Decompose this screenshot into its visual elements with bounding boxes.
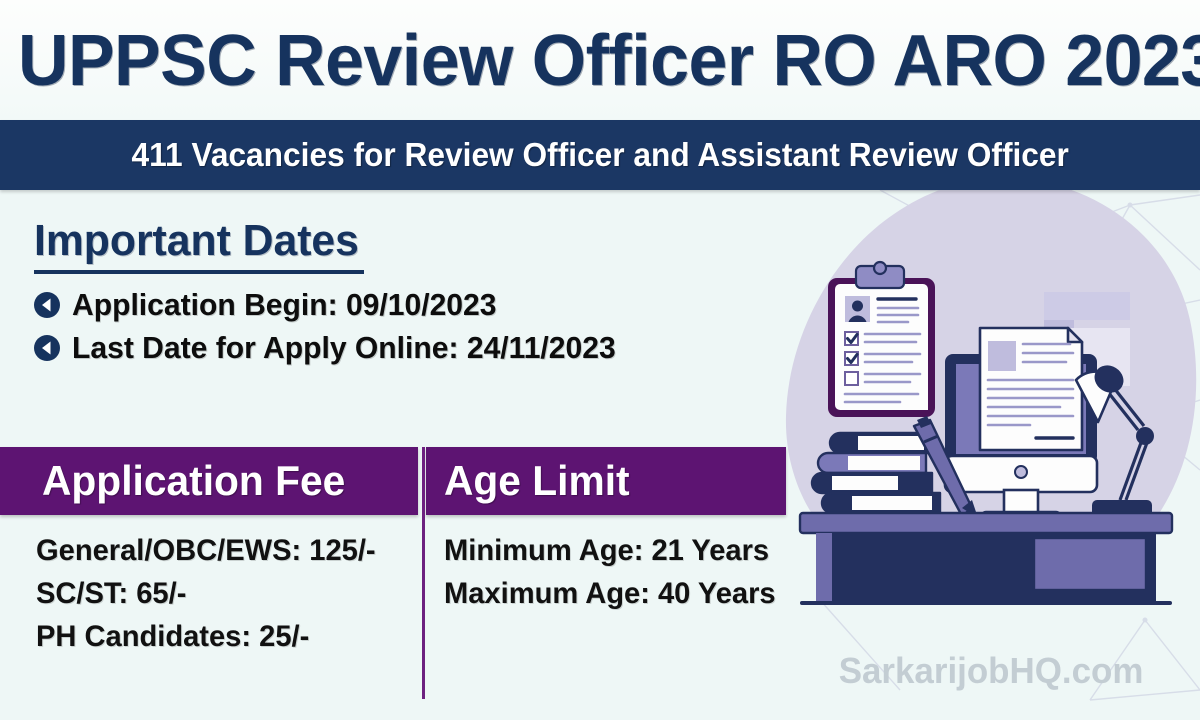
column-divider bbox=[422, 447, 425, 699]
age-limit-body: Minimum Age: 21 Years Maximum Age: 40 Ye… bbox=[426, 529, 786, 658]
application-fee-header: Application Fee bbox=[42, 458, 345, 504]
age-limit-header: Age Limit bbox=[444, 458, 630, 504]
vacancy-subtitle: 411 Vacancies for Review Officer and Ass… bbox=[131, 136, 1068, 174]
caret-left-circle-icon bbox=[34, 292, 60, 318]
poster-canvas: .nv{fill:#23305e}.pw{fill:#7b79b8}.lv{fi… bbox=[0, 0, 1200, 720]
important-dates-block: Important Dates Application Begin: 09/10… bbox=[34, 215, 633, 374]
age-line: Minimum Age: 21 Years bbox=[444, 529, 776, 572]
date-row: Last Date for Apply Online: 24/11/2023 bbox=[34, 331, 633, 365]
fee-line: PH Candidates: 25/- bbox=[36, 615, 407, 658]
document-page-icon bbox=[980, 328, 1082, 450]
important-dates-heading: Important Dates bbox=[34, 215, 615, 267]
subtitle-band: 411 Vacancies for Review Officer and Ass… bbox=[0, 120, 1200, 190]
date-label: Application Begin: 09/10/2023 bbox=[72, 288, 496, 322]
heading-underline bbox=[34, 270, 364, 274]
caret-left-circle-icon bbox=[34, 335, 60, 361]
age-line: Maximum Age: 40 Years bbox=[444, 572, 776, 615]
fee-line: General/OBC/EWS: 125/- bbox=[36, 529, 407, 572]
column-body-row: General/OBC/EWS: 125/- SC/ST: 65/- PH Ca… bbox=[0, 515, 786, 658]
fee-line: SC/ST: 65/- bbox=[36, 572, 407, 615]
date-row: Application Begin: 09/10/2023 bbox=[34, 288, 633, 322]
date-label: Last Date for Apply Online: 24/11/2023 bbox=[72, 331, 616, 365]
book-stack-icon bbox=[812, 433, 940, 513]
page-title: UPPSC Review Officer RO ARO 2023 bbox=[18, 16, 1182, 106]
age-limit-header-cell: Age Limit bbox=[426, 447, 786, 515]
column-headers-row: Application Fee Age Limit bbox=[0, 447, 786, 515]
desk-icon bbox=[800, 513, 1172, 605]
info-columns: Application Fee Age Limit General/OBC/EW… bbox=[0, 447, 786, 658]
site-watermark: SarkarijobHQ.com bbox=[839, 650, 1144, 692]
application-fee-body: General/OBC/EWS: 125/- SC/ST: 65/- PH Ca… bbox=[0, 529, 418, 658]
desk-workspace-illustration: .nv{fill:#23305e}.pw{fill:#7b79b8}.lv{fi… bbox=[790, 228, 1190, 628]
header-zone: UPPSC Review Officer RO ARO 2023 bbox=[0, 0, 1200, 120]
application-fee-header-cell: Application Fee bbox=[0, 447, 418, 515]
clipboard-with-checklist-icon bbox=[828, 262, 935, 417]
